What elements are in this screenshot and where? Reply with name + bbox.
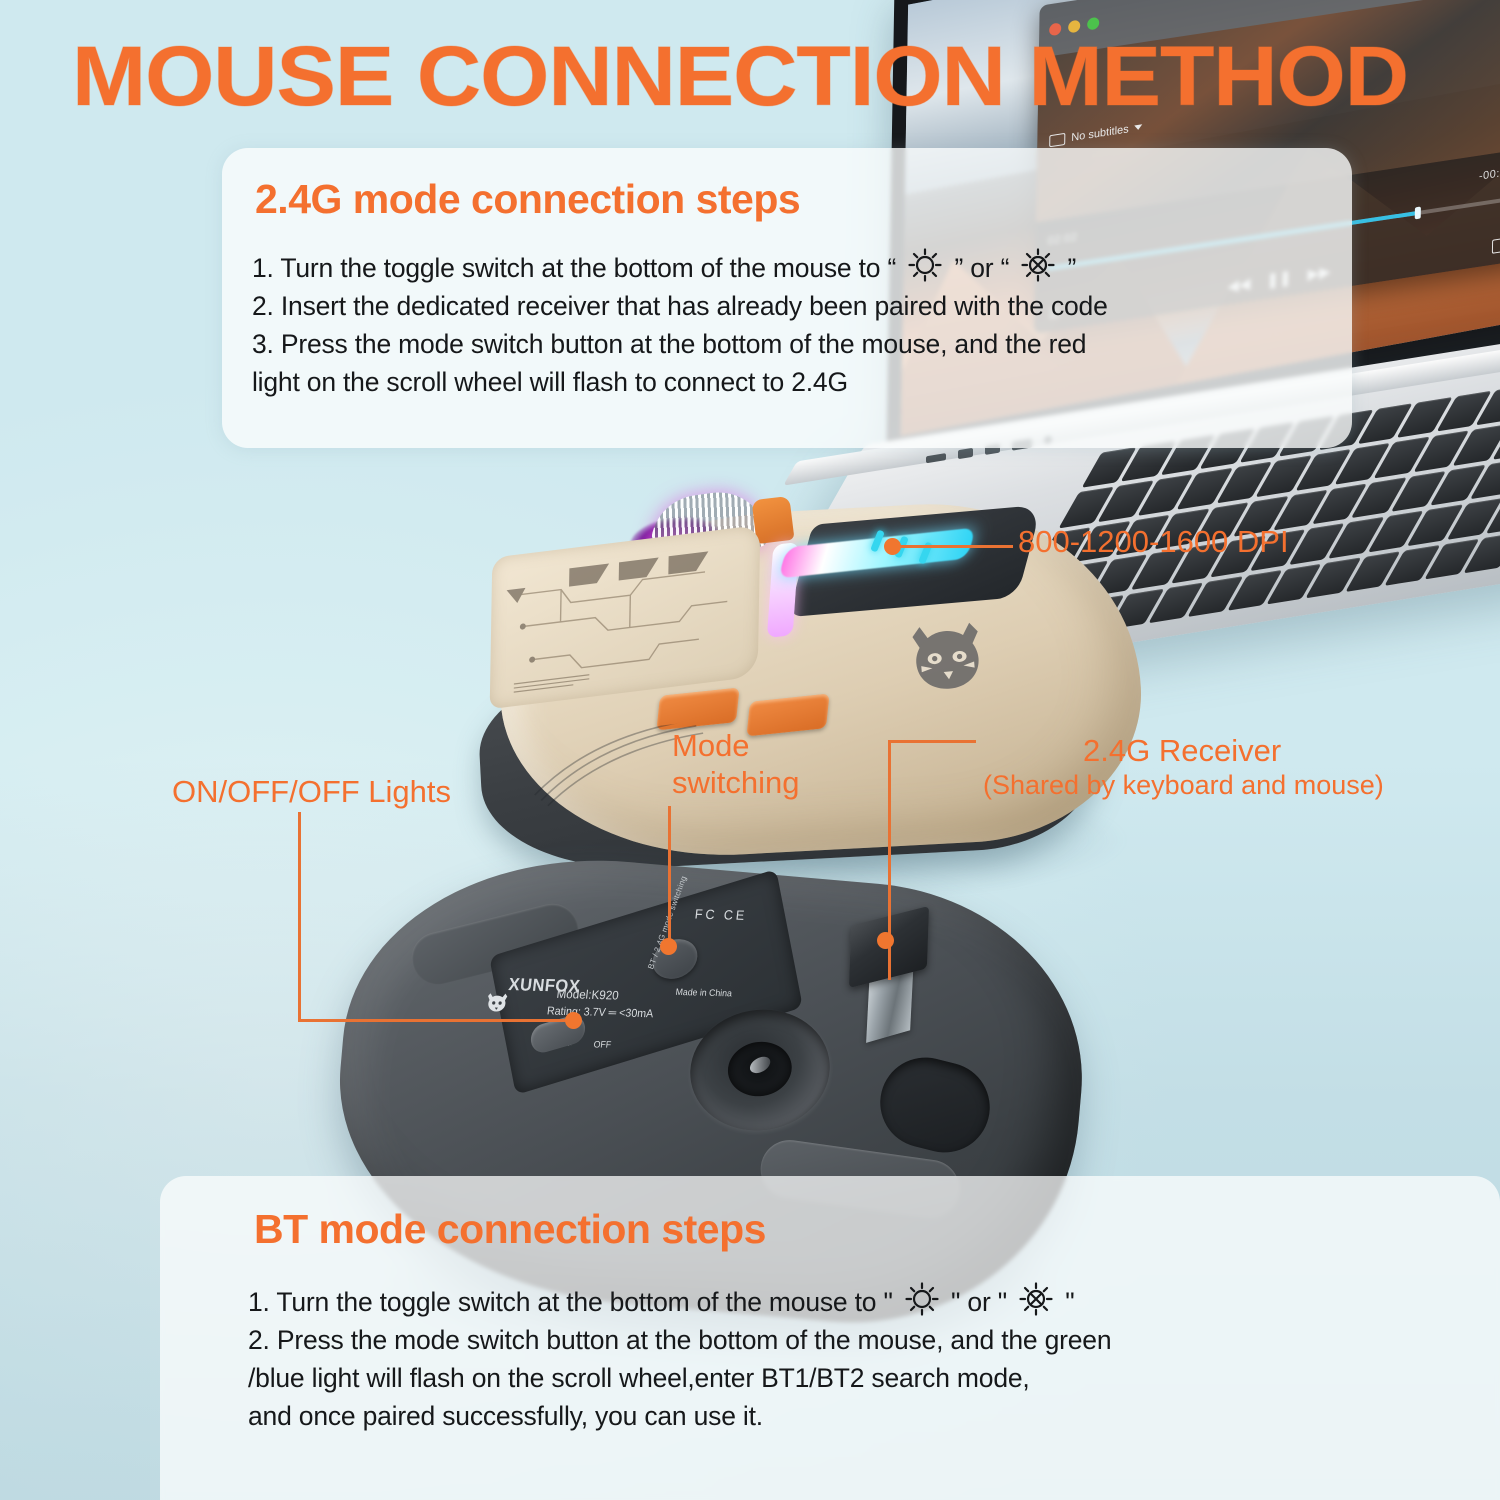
step-24g-3-cont: light on the scroll wheel will flash to … <box>252 364 1108 402</box>
magsafe-port-icon <box>926 453 946 463</box>
chevron-down-icon <box>1135 125 1143 131</box>
sun-x-icon <box>1018 248 1058 282</box>
step-bt-1-suffix: " <box>1065 1287 1074 1317</box>
callout-receiver-sub: (Shared by keyboard and mouse) <box>983 770 1384 801</box>
step-24g-1: 1. Turn the toggle switch at the bottom … <box>252 248 1108 288</box>
callout-receiver-title: 2.4G Receiver <box>1083 733 1281 769</box>
callout-line-dpi <box>893 545 1013 548</box>
step-24g-1-mid: ” or “ <box>954 253 1009 283</box>
label-certifications: FC CE <box>694 906 748 923</box>
heading-bt: BT mode connection steps <box>254 1206 766 1253</box>
callout-dot-lights <box>565 1012 582 1029</box>
time-remaining: -00:31 <box>1479 166 1500 183</box>
callout-line-receiver-h <box>888 740 976 743</box>
callout-line-lights-h <box>298 1019 568 1022</box>
callout-lights: ON/OFF/OFF Lights <box>172 774 451 810</box>
optical-sensor-lens <box>724 1037 796 1101</box>
step-bt-2-cont2: and once paired successfully, you can us… <box>248 1398 1111 1436</box>
step-24g-1-suffix: ” <box>1068 253 1077 283</box>
callout-dot-receiver <box>877 932 894 949</box>
step-24g-2: 2. Insert the dedicated receiver that ha… <box>252 288 1108 326</box>
xunfox-mark-icon <box>485 992 509 1013</box>
step-bt-1: 1. Turn the toggle switch at the bottom … <box>248 1282 1111 1322</box>
panel-bt-steps: BT mode connection steps 1. Turn the tog… <box>160 1176 1500 1500</box>
label-made-in: Made in China <box>675 987 732 999</box>
callout-dpi: 800-1200-1600 DPI <box>1018 524 1289 560</box>
callout-mode-line2: switching <box>672 765 800 801</box>
xunfox-fox-logo-icon <box>905 617 989 696</box>
callout-mode-line1: Mode <box>672 728 750 764</box>
sun-icon <box>905 248 945 282</box>
heading-24g: 2.4G mode connection steps <box>255 176 800 223</box>
step-24g-1-prefix: 1. Turn the toggle switch at the bottom … <box>252 253 896 283</box>
seek-knob[interactable] <box>1415 207 1421 220</box>
step-bt-1-mid: " or " <box>951 1287 1014 1317</box>
panel-24g-steps: 2.4G mode connection steps 1. Turn the t… <box>222 148 1352 448</box>
callout-dot-mode <box>660 938 677 955</box>
step-bt-1-prefix: 1. Turn the toggle switch at the bottom … <box>248 1287 900 1317</box>
step-bt-2: 2. Press the mode switch button at the b… <box>248 1322 1111 1360</box>
label-model: Model:K920 <box>556 987 620 1003</box>
callout-line-lights-v <box>298 812 301 1022</box>
step-bt-2-cont: /blue light will flash on the scroll whe… <box>248 1360 1111 1398</box>
step-24g-3: 3. Press the mode switch button at the b… <box>252 326 1108 364</box>
callout-line-mode-v <box>668 806 671 946</box>
thunderbolt-port-icon <box>958 447 973 458</box>
airplay-icon[interactable] <box>1492 237 1500 254</box>
sun-icon <box>902 1282 942 1316</box>
circuit-pattern-icon <box>500 536 750 698</box>
sun-x-icon <box>1016 1282 1056 1316</box>
callout-dot-dpi <box>884 538 901 555</box>
page-title: MOUSE CONNECTION METHOD <box>72 28 1500 125</box>
label-off-text: OFF <box>593 1039 612 1050</box>
lens-highlight <box>747 1053 773 1076</box>
